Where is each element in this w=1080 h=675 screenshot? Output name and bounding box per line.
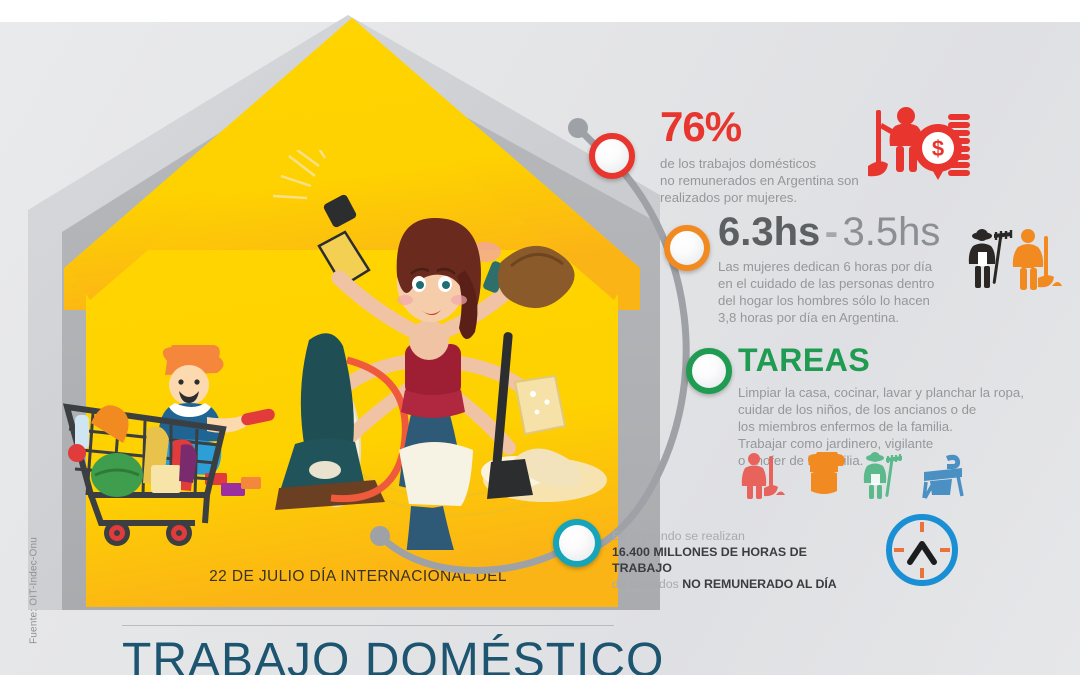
world-line-2: 16.400 MILLONES DE HORAS DE TRABAJO — [612, 545, 807, 575]
marker-world-hours[interactable] — [553, 519, 601, 567]
stat-line: no remunerados en Argentina son — [660, 172, 859, 189]
stat-headline-76: 76% — [660, 106, 859, 148]
hours-men: 3.5hs — [843, 210, 941, 254]
clock-icon — [882, 510, 962, 590]
stat-line: realizados por mujeres. — [660, 189, 859, 206]
infographic-canvas: 22 DE JULIO DÍA INTERNACIONAL DEL TRABAJ… — [0, 0, 1080, 675]
stat-line: Trabajar como jardinero, vigilante — [738, 435, 1058, 452]
ironing-board-icon — [920, 452, 966, 500]
marker-tasks[interactable] — [686, 348, 732, 394]
task-icons-row — [740, 452, 966, 500]
world-line-3-prefix: de cuidados — [612, 577, 682, 591]
stat-line: 3,8 horas por día en Argentina. — [718, 309, 1018, 326]
svg-text:$: $ — [932, 136, 944, 161]
stat-line: cuidar de los niños, de los ancianos o d… — [738, 401, 1058, 418]
hours-separator: - — [825, 210, 838, 254]
title-divider — [122, 625, 614, 626]
gardener-and-cleaner-icon — [966, 228, 1062, 294]
cleaning-person-icon — [740, 452, 786, 500]
hours-women: 6.3hs — [718, 210, 820, 254]
source-note: Fuente: OIT-Indec-Onu — [29, 531, 40, 651]
woman-broom-coins-icon: $ — [862, 104, 970, 186]
world-line-3-emphasis: NO REMUNERADO AL DÍA — [682, 577, 836, 591]
marker-hours-care[interactable] — [664, 225, 710, 271]
stat-world-hours: En el mundo se realizan 16.400 MILLONES … — [612, 528, 862, 592]
page-title: TRABAJO DOMÉSTICO — [122, 635, 722, 675]
stat-line: de los trabajos domésticos — [660, 155, 859, 172]
marker-share-women[interactable] — [589, 133, 635, 179]
stat-share-women: 76% de los trabajos domésticos no remune… — [660, 106, 859, 206]
stat-line: Limpiar la casa, cocinar, lavar y planch… — [738, 384, 1058, 401]
world-line-1: En el mundo se realizan — [612, 528, 862, 544]
chef-apron-icon — [802, 452, 846, 500]
child-in-shopping-cart-illustration — [55, 345, 315, 560]
stat-tasks: TAREAS Limpiar la casa, cocinar, lavar y… — [738, 344, 1058, 469]
tasks-headline: TAREAS — [738, 344, 1058, 376]
day-label: 22 DE JULIO DÍA INTERNACIONAL DEL — [118, 568, 598, 586]
gardener-rake-icon — [862, 452, 904, 500]
stat-line: del hogar los hombres sólo lo hacen — [718, 292, 1018, 309]
stat-line: los miembros enfermos de la familia. — [738, 418, 1058, 435]
